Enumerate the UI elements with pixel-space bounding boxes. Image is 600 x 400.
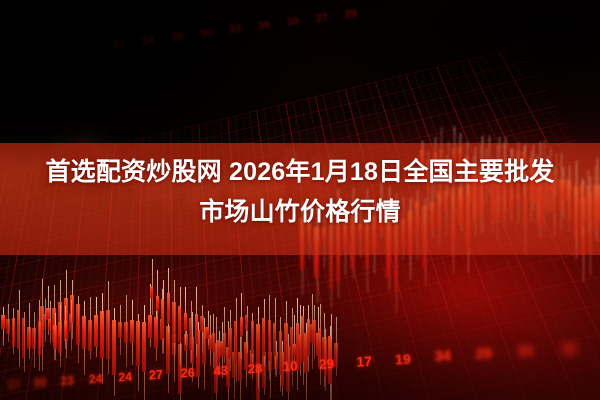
axis-tick-label: 34	[434, 348, 451, 365]
axis-tick-label: 17	[7, 379, 20, 392]
axis-tick-label: 17	[356, 353, 372, 370]
axis-tick-label: 29	[319, 356, 335, 372]
top-axis-tick-label: 29	[344, 8, 358, 21]
axis-tick-label: 32	[560, 340, 577, 358]
top-axis-tick-label: 24	[141, 34, 155, 47]
top-axis-tick-label: 27	[315, 11, 329, 24]
axis-tick-label: 24	[89, 372, 103, 387]
axis-tick-label: 10	[282, 358, 298, 374]
axis-tick-label: 31	[517, 343, 534, 360]
axis-tick-label: 27	[149, 368, 164, 383]
axis-tick-label: 28	[247, 361, 262, 377]
axis-tick-label: 19	[395, 351, 411, 368]
axis-tick-label: 43	[213, 363, 228, 379]
top-axis-tick-label: 30	[286, 15, 300, 28]
axis-tick-label: 24	[118, 370, 132, 385]
axis-tick-label: 26	[180, 365, 195, 381]
top-axis-tick-label: 36	[257, 19, 271, 32]
top-axis-tick-label: 33	[228, 23, 242, 36]
top-axis-tick-label: 23	[112, 38, 126, 51]
stock-chart-banner: 232426303336302729 173023242427264328102…	[0, 0, 600, 400]
axis-tick-label: 29	[475, 346, 492, 363]
top-axis-tick-label: 26	[170, 30, 184, 43]
axis-tick-label: 23	[60, 374, 74, 389]
axis-tick-label: 30	[33, 376, 47, 390]
top-axis-tick-label: 30	[199, 27, 213, 40]
